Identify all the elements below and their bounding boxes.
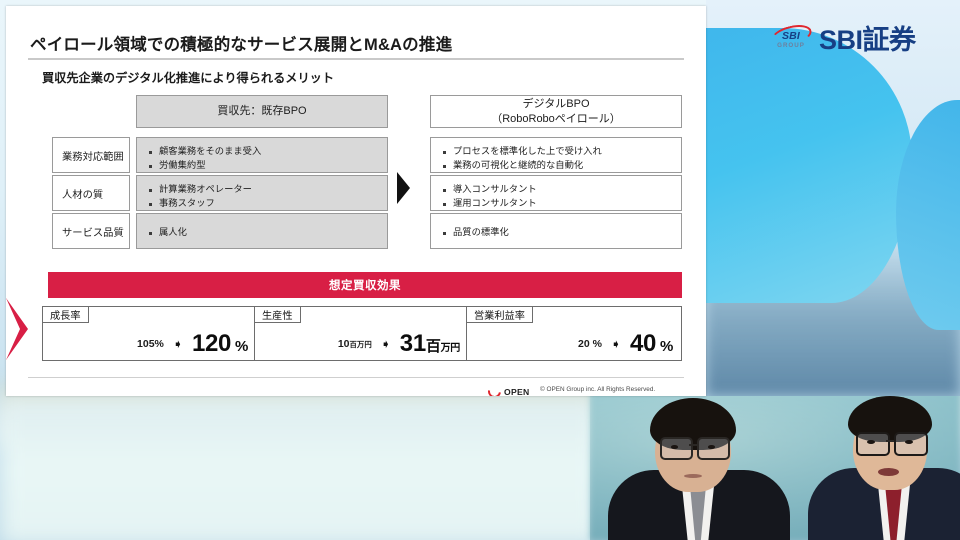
bullet: 事務スタッフ — [147, 197, 387, 211]
metric-arrow-icon: ➧ — [611, 338, 621, 350]
metric-tag: 成長率 — [42, 306, 89, 323]
cell-right-2: 品質の標準化 — [430, 213, 682, 249]
transition-arrow-icon — [397, 172, 410, 204]
bullet: 顧客業務をそのまま受入 — [147, 145, 387, 159]
webinar-screen: SBI GROUP SBI証券 ペイロール領域での積極的なサービス展開とM&Aの… — [0, 0, 960, 540]
bullet: 業務の可視化と継続的な自動化 — [441, 159, 681, 173]
effect-banner: 想定買収効果 — [48, 272, 682, 298]
metric-arrow-icon: ➧ — [173, 338, 183, 350]
sbi-brand-name: SBI証券 — [819, 18, 916, 57]
open-swoosh-icon — [485, 382, 503, 396]
bullet: 労働集約型 — [147, 159, 387, 173]
cell-right-0: プロセスを標準化した上で受け入れ 業務の可視化と継続的な自動化 — [430, 137, 682, 173]
metric-after: 31百万円 — [400, 330, 460, 358]
row-label-0: 業務対応範囲 — [52, 137, 130, 173]
row-label-2: サービス品質 — [52, 213, 130, 249]
footer-divider — [28, 377, 684, 378]
cell-left-1: 計算業務オペレーター 事務スタッフ — [136, 175, 388, 211]
row-label-1: 人材の質 — [52, 175, 130, 211]
metric-before: 10百万円 — [338, 338, 372, 350]
red-chevron-cut — [6, 298, 20, 360]
metric-before: 105% — [137, 338, 164, 350]
bullet: 計算業務オペレーター — [147, 183, 387, 197]
sbi-group-label: GROUP — [773, 42, 809, 49]
metric-card-operating-margin: 営業利益率 20 % ➧ 40 % — [466, 306, 682, 361]
blue-swoosh-shape — [706, 28, 912, 303]
slide-title: ペイロール領域での積極的なサービス展開とM&Aの推進 — [30, 31, 452, 55]
background-blur-left — [0, 400, 600, 540]
presentation-slide: ペイロール領域での積極的なサービス展開とM&Aの推進 買収先企業のデジタル化推進… — [6, 6, 706, 396]
bullet: 品質の標準化 — [441, 226, 681, 240]
column-header-right-line1: デジタルBPO — [491, 97, 621, 112]
bullet: 運用コンサルタント — [441, 197, 681, 211]
metric-tag: 営業利益率 — [466, 306, 533, 323]
sbi-group-mark-icon: SBI GROUP — [770, 23, 810, 53]
bullet: 属人化 — [147, 226, 387, 240]
metric-after: 120 % — [192, 330, 248, 358]
metric-tag: 生産性 — [254, 306, 301, 323]
blue-graphic-panel — [706, 0, 960, 396]
column-header-right-line2: （RoboRoboペイロール） — [491, 112, 621, 127]
metric-after: 40 % — [630, 330, 673, 358]
metric-card-productivity: 生産性 10百万円 ➧ 31百万円 — [254, 306, 469, 361]
cell-right-1: 導入コンサルタント 運用コンサルタント — [430, 175, 682, 211]
slide-subtitle: 買収先企業のデジタル化推進により得られるメリット — [42, 68, 334, 86]
bullet: プロセスを標準化した上で受け入れ — [441, 145, 681, 159]
title-divider — [28, 58, 684, 60]
cell-left-2: 属人化 — [136, 213, 388, 249]
cell-left-0: 顧客業務をそのまま受入 労働集約型 — [136, 137, 388, 173]
open-group-logo: OPEN — [488, 385, 530, 396]
metric-before: 20 % — [578, 338, 602, 350]
metric-card-growth: 成長率 105% ➧ 120 % — [42, 306, 257, 361]
metric-arrow-icon: ➧ — [381, 338, 391, 350]
bullet: 導入コンサルタント — [441, 183, 681, 197]
copyright-text: © OPEN Group inc. All Rights Reserved. — [540, 386, 655, 393]
column-header-left: 買収先：既存BPO — [136, 95, 388, 128]
open-logo-text: OPEN — [504, 387, 530, 397]
sbi-logo: SBI GROUP SBI証券 — [770, 18, 916, 57]
sbi-mark-label: SBI — [774, 30, 808, 42]
column-header-right: デジタルBPO （RoboRoboペイロール） — [430, 95, 682, 128]
